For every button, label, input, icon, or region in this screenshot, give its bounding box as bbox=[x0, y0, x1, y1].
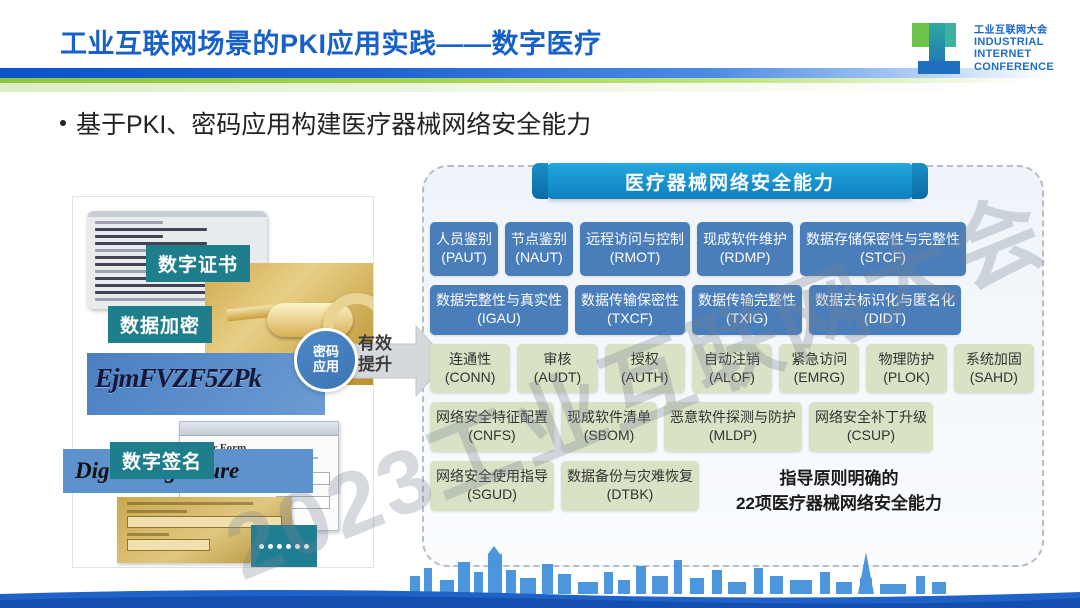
capability-name: 物理防护 bbox=[879, 351, 935, 367]
logo-mark-icon bbox=[910, 21, 968, 77]
capability-name: 数据备份与灾难恢复 bbox=[567, 468, 693, 484]
capability-name: 审核 bbox=[543, 351, 571, 367]
encryption-band: EjmFVZF5ZPk bbox=[87, 353, 325, 415]
panel-conclusion-line-2: 22项医疗器械网络安全能力 bbox=[736, 492, 942, 517]
capability-cell[interactable]: 网络安全补丁升级(CSUP) bbox=[809, 402, 933, 452]
conference-logo: 工业互联网大会 INDUSTRIAL INTERNET CONFERENCE bbox=[910, 18, 1060, 80]
logo-title-cn: 工业互联网大会 bbox=[974, 25, 1054, 36]
capability-row: 网络安全特征配置(CNFS)现成软件清单(SBOM)恶意软件探测与防护(MLDP… bbox=[430, 402, 1034, 452]
effect-line-1: 有效 bbox=[358, 333, 392, 354]
capability-name: 节点鉴别 bbox=[511, 231, 567, 247]
slide: 工业互联网场景的PKI应用实践——数字医疗 工业互联网大会 INDUSTRIAL… bbox=[0, 0, 1080, 608]
capability-cell[interactable]: 节点鉴别(NAUT) bbox=[505, 222, 573, 276]
capability-name: 数据存储保密性与完整性 bbox=[806, 231, 960, 247]
capability-cell[interactable]: 数据传输完整性(TXIG) bbox=[692, 285, 802, 335]
capability-name: 恶意软件探测与防护 bbox=[670, 409, 796, 425]
capability-name: 网络安全特征配置 bbox=[436, 409, 548, 425]
ribbon-title-text: 医疗器械网络安全能力 bbox=[625, 168, 835, 195]
capability-code: (DIDT) bbox=[815, 310, 955, 328]
capability-code: (SAHD) bbox=[960, 369, 1028, 387]
capability-code: (AUTH) bbox=[611, 369, 679, 387]
capability-name: 现成软件维护 bbox=[703, 231, 787, 247]
capability-name: 数据完整性与真实性 bbox=[436, 292, 562, 308]
capability-cell[interactable]: 数据备份与灾难恢复(DTBK) bbox=[561, 461, 699, 511]
capability-cell[interactable]: 远程访问与控制(RMOT) bbox=[580, 222, 690, 276]
capability-name: 授权 bbox=[631, 351, 659, 367]
label-digital-certificate: 数字证书 bbox=[146, 245, 250, 282]
capability-name: 数据传输保密性 bbox=[581, 292, 679, 308]
bullet-heading: 基于PKI、密码应用构建医疗器械网络安全能力 bbox=[60, 105, 591, 141]
capability-code: (TXIG) bbox=[698, 310, 796, 328]
capability-cell[interactable]: 自动注销(ALOF) bbox=[692, 344, 772, 394]
label-data-encryption: 数据加密 bbox=[108, 306, 212, 343]
effect-line-2: 提升 bbox=[358, 354, 392, 375]
capability-name: 网络安全补丁升级 bbox=[815, 409, 927, 425]
capability-code: (MLDP) bbox=[670, 427, 796, 445]
capability-name: 网络安全使用指导 bbox=[436, 468, 548, 484]
capability-cell[interactable]: 授权(AUTH) bbox=[605, 344, 685, 394]
capability-code: (AUDT) bbox=[523, 369, 591, 387]
capability-cell[interactable]: 网络安全特征配置(CNFS) bbox=[430, 402, 554, 452]
capability-code: (NAUT) bbox=[511, 249, 567, 267]
effect-arrow-label: 有效 提升 bbox=[358, 333, 392, 376]
logo-title-en-2: INTERNET bbox=[974, 48, 1054, 60]
capability-cell[interactable]: 系统加固(SAHD) bbox=[954, 344, 1034, 394]
capability-row: 网络安全使用指导(SGUD)数据备份与灾难恢复(DTBK)指导原则明确的22项医… bbox=[430, 461, 1034, 516]
capability-name: 远程访问与控制 bbox=[586, 231, 684, 247]
capability-code: (RDMP) bbox=[703, 249, 787, 267]
crypto-badge-line-2: 应用 bbox=[313, 360, 339, 375]
logo-title-en-1: INDUSTRIAL bbox=[974, 36, 1054, 48]
capability-cell[interactable]: 现成软件维护(RDMP) bbox=[697, 222, 793, 276]
capability-code: (TXCF) bbox=[581, 310, 679, 328]
capability-code: (CSUP) bbox=[815, 427, 927, 445]
crypto-application-badge: 密码 应用 bbox=[294, 328, 358, 392]
capability-code: (SGUD) bbox=[436, 486, 548, 504]
capability-code: (PLOK) bbox=[872, 369, 940, 387]
capability-cell[interactable]: 现成软件清单(SBOM) bbox=[561, 402, 657, 452]
panel-conclusion: 指导原则明确的22项医疗器械网络安全能力 bbox=[736, 461, 942, 516]
logo-title-en-3: CONFERENCE bbox=[974, 61, 1054, 73]
capability-row: 人员鉴别(PAUT)节点鉴别(NAUT)远程访问与控制(RMOT)现成软件维护(… bbox=[430, 222, 1034, 276]
capability-code: (SBOM) bbox=[567, 427, 651, 445]
capability-code: (IGAU) bbox=[436, 310, 562, 328]
capability-cell[interactable]: 物理防护(PLOK) bbox=[866, 344, 946, 394]
capability-code: (DTBK) bbox=[567, 486, 693, 504]
capability-cell[interactable]: 恶意软件探测与防护(MLDP) bbox=[664, 402, 802, 452]
capability-cell[interactable]: 审核(AUDT) bbox=[517, 344, 597, 394]
capability-name: 自动注销 bbox=[704, 351, 760, 367]
page-title: 工业互联网场景的PKI应用实践——数字医疗 bbox=[60, 22, 602, 61]
capability-cell[interactable]: 数据去标识化与匿名化(DIDT) bbox=[809, 285, 961, 335]
capability-cell[interactable]: 人员鉴别(PAUT) bbox=[430, 222, 498, 276]
crypto-badge-line-1: 密码 bbox=[313, 345, 339, 360]
capability-name: 数据传输完整性 bbox=[698, 292, 796, 308]
capability-cell[interactable]: 连通性(CONN) bbox=[430, 344, 510, 394]
header-rule-wash bbox=[0, 83, 1080, 92]
bullet-heading-text: 基于PKI、密码应用构建医疗器械网络安全能力 bbox=[76, 111, 591, 139]
capability-cell[interactable]: 数据传输保密性(TXCF) bbox=[575, 285, 685, 335]
capability-code: (RMOT) bbox=[586, 249, 684, 267]
capability-code: (ALOF) bbox=[698, 369, 766, 387]
capability-row: 数据完整性与真实性(IGAU)数据传输保密性(TXCF)数据传输完整性(TXIG… bbox=[430, 285, 1034, 335]
capability-code: (CNFS) bbox=[436, 427, 548, 445]
capability-cell[interactable]: 数据存储保密性与完整性(STCF) bbox=[800, 222, 966, 276]
capability-cell[interactable]: 网络安全使用指导(SGUD) bbox=[430, 461, 554, 511]
capability-name: 现成软件清单 bbox=[567, 409, 651, 425]
cipher-text: EjmFVZF5ZPk bbox=[95, 363, 261, 394]
capability-code: (PAUT) bbox=[436, 249, 492, 267]
capability-code: (CONN) bbox=[436, 369, 504, 387]
capability-code: (STCF) bbox=[806, 249, 960, 267]
capability-cell[interactable]: 紧急访问(EMRG) bbox=[779, 344, 859, 394]
logo-text: 工业互联网大会 INDUSTRIAL INTERNET CONFERENCE bbox=[974, 25, 1054, 73]
label-digital-signature: 数字签名 bbox=[110, 442, 214, 479]
capability-code: (EMRG) bbox=[785, 369, 853, 387]
panel-ribbon-title: 医疗器械网络安全能力 bbox=[546, 163, 914, 199]
capability-name: 连通性 bbox=[449, 351, 491, 367]
bullet-dot-icon bbox=[60, 120, 66, 126]
capability-name: 人员鉴别 bbox=[436, 231, 492, 247]
capability-name: 紧急访问 bbox=[791, 351, 847, 367]
capability-row: 连通性(CONN)审核(AUDT)授权(AUTH)自动注销(ALOF)紧急访问(… bbox=[430, 344, 1034, 394]
password-dots-box bbox=[251, 525, 317, 567]
capability-name: 系统加固 bbox=[966, 351, 1022, 367]
capability-name: 数据去标识化与匿名化 bbox=[815, 292, 955, 308]
capability-cell[interactable]: 数据完整性与真实性(IGAU) bbox=[430, 285, 568, 335]
capability-rows: 人员鉴别(PAUT)节点鉴别(NAUT)远程访问与控制(RMOT)现成软件维护(… bbox=[430, 222, 1034, 526]
panel-conclusion-line-1: 指导原则明确的 bbox=[736, 467, 942, 492]
